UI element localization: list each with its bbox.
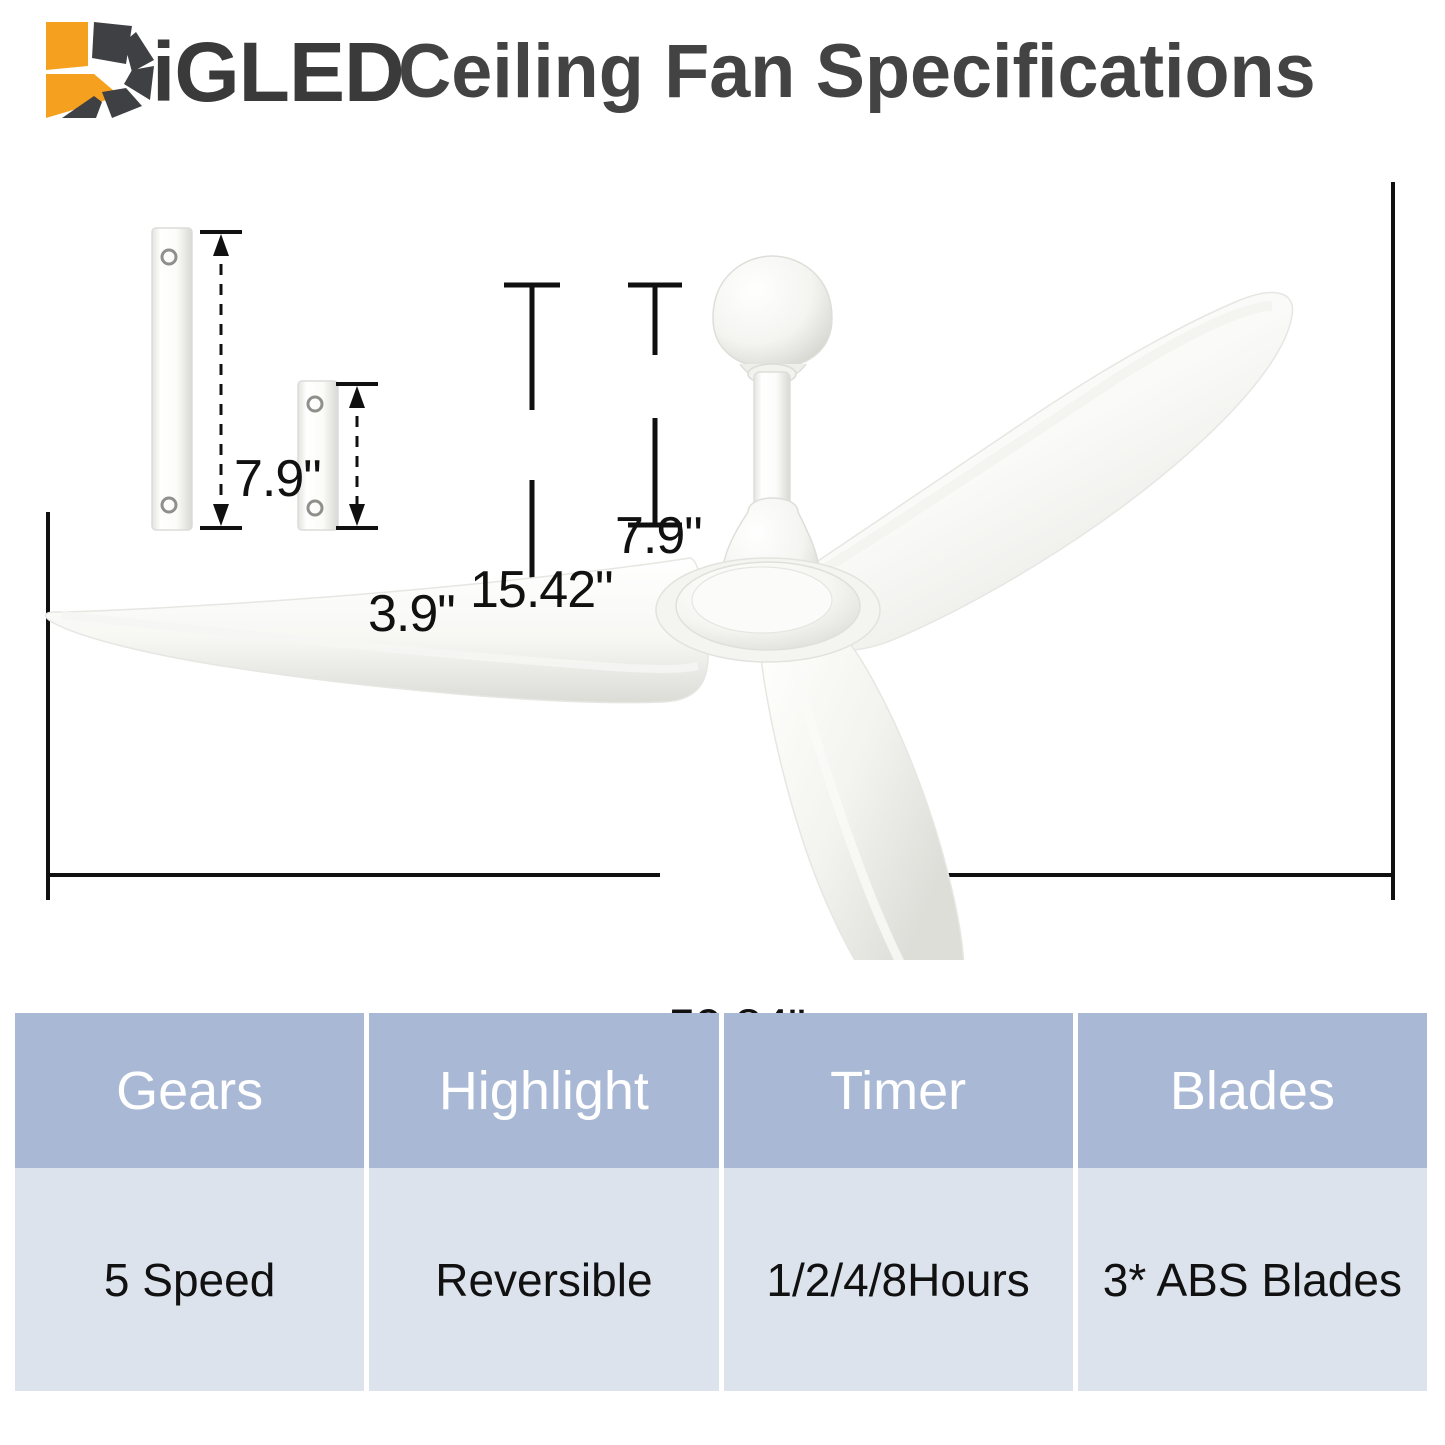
downrod-short-dimension [336, 384, 378, 528]
table-value-highlight: Reversible [369, 1168, 723, 1391]
fan-hub [656, 558, 880, 662]
product-spec-page: iGLED Ceiling Fan Specifications [0, 0, 1445, 1445]
table-header-blades: Blades [1078, 1013, 1427, 1168]
table-header-gears: Gears [15, 1013, 369, 1168]
table-header-timer: Timer [724, 1013, 1078, 1168]
table-value-gears: 5 Speed [15, 1168, 369, 1391]
fan-dimension-diagram: 7.9" 3.9" 15.42" 7.9" 59.84" [0, 160, 1445, 960]
specification-table: Gears Highlight Timer Blades 5 Speed Rev… [15, 1013, 1427, 1391]
page-title: Ceiling Fan Specifications [398, 22, 1316, 122]
table-value-timer: 1/2/4/8Hours [724, 1168, 1078, 1391]
dim-label-downrod-short: 3.9" [368, 584, 455, 644]
table-value-row: 5 Speed Reversible 1/2/4/8Hours 3* ABS B… [15, 1168, 1427, 1391]
table-header-highlight: Highlight [369, 1013, 723, 1168]
dim-label-overall-height: 15.42" [470, 560, 613, 620]
page-header: iGLED Ceiling Fan Specifications [0, 0, 1445, 165]
ceiling-canopy [713, 256, 832, 384]
dim-label-rod-drop: 7.9" [615, 506, 702, 566]
table-value-blades: 3* ABS Blades [1078, 1168, 1427, 1391]
rod-drop-dimension [628, 285, 682, 525]
logo-wordmark: iGLED [152, 24, 404, 120]
table-header-row: Gears Highlight Timer Blades [15, 1013, 1427, 1168]
dim-label-downrod-long: 7.9" [234, 449, 321, 509]
digled-aperture-logo-icon [36, 18, 164, 122]
long-downrod [152, 228, 192, 530]
